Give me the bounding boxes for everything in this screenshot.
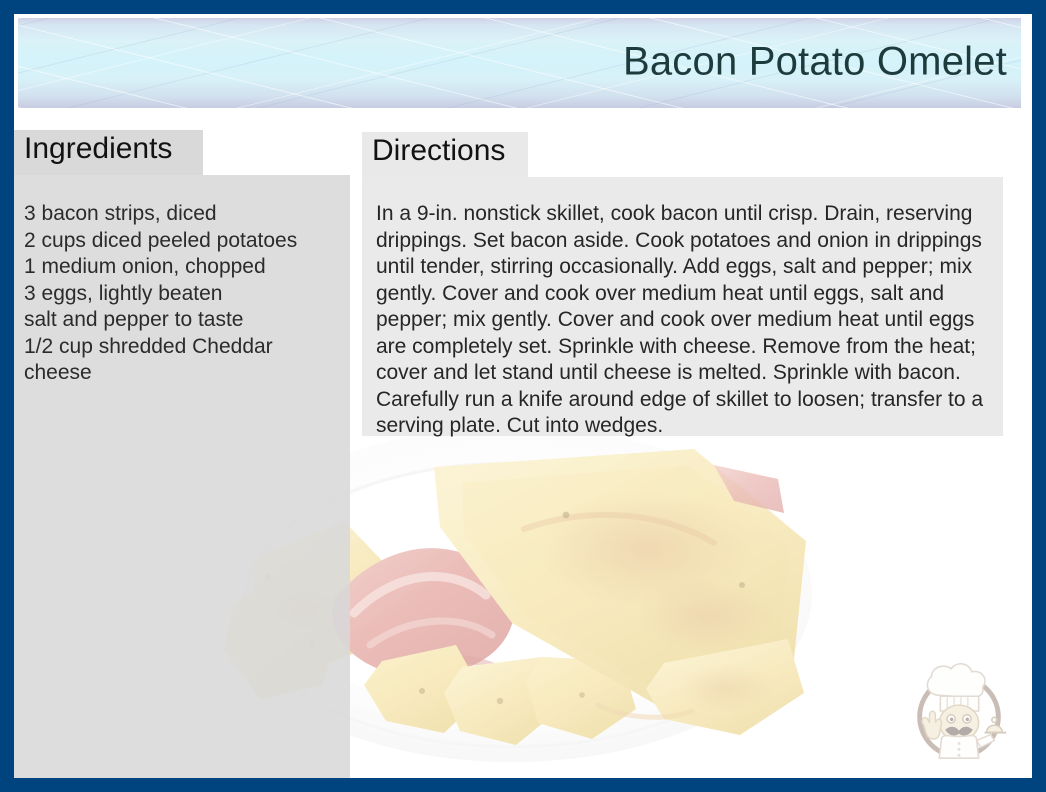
- chef-mascot-logo: [900, 652, 1018, 770]
- directions-panel: In a 9-in. nonstick skillet, cook bacon …: [362, 177, 1003, 436]
- directions-body-text: In a 9-in. nonstick skillet, cook bacon …: [376, 201, 987, 440]
- list-item: 2 cups diced peeled potatoes: [24, 228, 336, 255]
- list-item: cheese: [24, 360, 336, 387]
- list-item: salt and pepper to taste: [24, 307, 336, 334]
- page-title: Bacon Potato Omelet: [623, 40, 1007, 85]
- list-item: 1/2 cup shredded Cheddar: [24, 334, 336, 361]
- recipe-card: Bacon Potato Omelet Ingredients 3 bacon …: [0, 0, 1046, 792]
- list-item: 1 medium onion, chopped: [24, 254, 336, 281]
- ingredients-panel: 3 bacon strips, diced 2 cups diced peele…: [14, 175, 350, 778]
- list-item: 3 bacon strips, diced: [24, 201, 336, 228]
- section-tab-directions[interactable]: Directions: [362, 132, 528, 177]
- list-item: 3 eggs, lightly beaten: [24, 281, 336, 308]
- card-canvas: Bacon Potato Omelet Ingredients 3 bacon …: [14, 14, 1032, 778]
- header-banner: Bacon Potato Omelet: [18, 18, 1021, 108]
- section-tab-ingredients[interactable]: Ingredients: [14, 130, 203, 175]
